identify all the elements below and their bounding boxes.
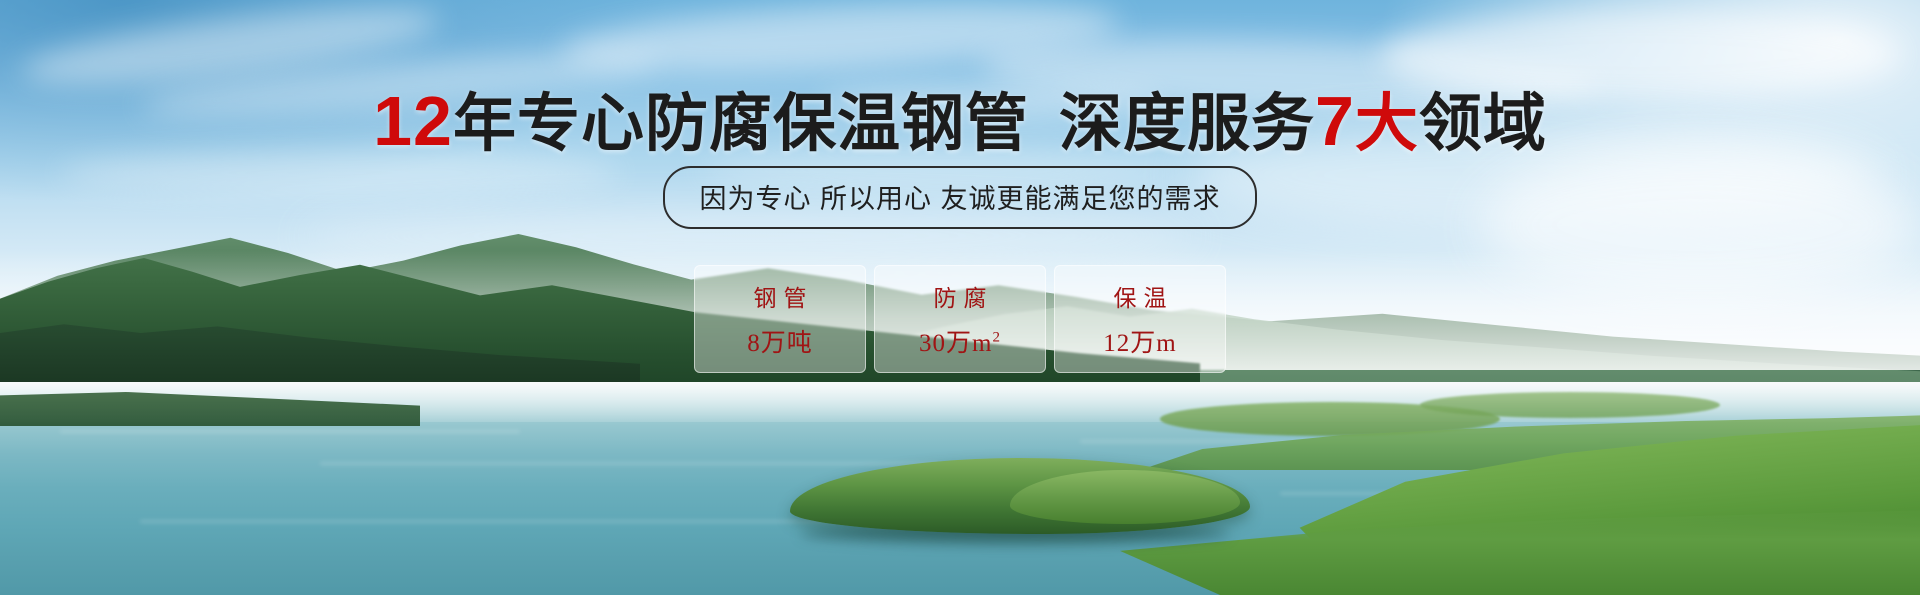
hero-banner: 12年专心防腐保温钢管深度服务7大领域 因为专心 所以用心 友诚更能满足您的需求… bbox=[0, 0, 1920, 595]
headline-fields-number: 7 bbox=[1315, 82, 1355, 160]
stat-card-value-main: 8万吨 bbox=[747, 330, 813, 357]
stat-card-value-main: 30万m bbox=[919, 330, 992, 357]
subtitle-pill: 因为专心 所以用心 友诚更能满足您的需求 bbox=[663, 166, 1256, 229]
stat-card-label: 保温 bbox=[1107, 279, 1174, 313]
headline-main-text: 年专心防腐保温钢管 bbox=[453, 89, 1029, 159]
stat-card-steel-pipe[interactable]: 钢管 8万吨 bbox=[694, 265, 866, 373]
stat-card-insulation[interactable]: 保温 12万m bbox=[1054, 265, 1226, 373]
stat-card-value: 30万m2 bbox=[919, 323, 1001, 359]
stat-card-label: 防腐 bbox=[927, 279, 994, 313]
stat-card-value-superscript: 2 bbox=[992, 330, 1001, 346]
marsh-patch bbox=[1420, 392, 1720, 418]
stat-card-label: 钢管 bbox=[747, 279, 814, 313]
headline-tail-text: 领域 bbox=[1419, 89, 1547, 159]
water-ripple bbox=[320, 462, 940, 465]
headline-service-text: 深度服务 bbox=[1059, 89, 1315, 159]
headline-red-char: 大 bbox=[1355, 89, 1419, 159]
stat-card-anticorrosion[interactable]: 防腐 30万m2 bbox=[874, 265, 1046, 373]
stat-card-value: 8万吨 bbox=[747, 323, 813, 359]
page-title: 12年专心防腐保温钢管深度服务7大领域 bbox=[0, 86, 1920, 156]
stat-cards: 钢管 8万吨 防腐 30万m2 保温 12万m bbox=[0, 265, 1920, 373]
headline-years-number: 12 bbox=[373, 82, 453, 160]
water-ripple bbox=[60, 430, 520, 433]
stat-card-value: 12万m bbox=[1103, 323, 1176, 359]
water-ripple bbox=[140, 520, 840, 523]
stat-card-value-main: 12万m bbox=[1103, 330, 1176, 357]
subtitle-container: 因为专心 所以用心 友诚更能满足您的需求 bbox=[0, 166, 1920, 229]
